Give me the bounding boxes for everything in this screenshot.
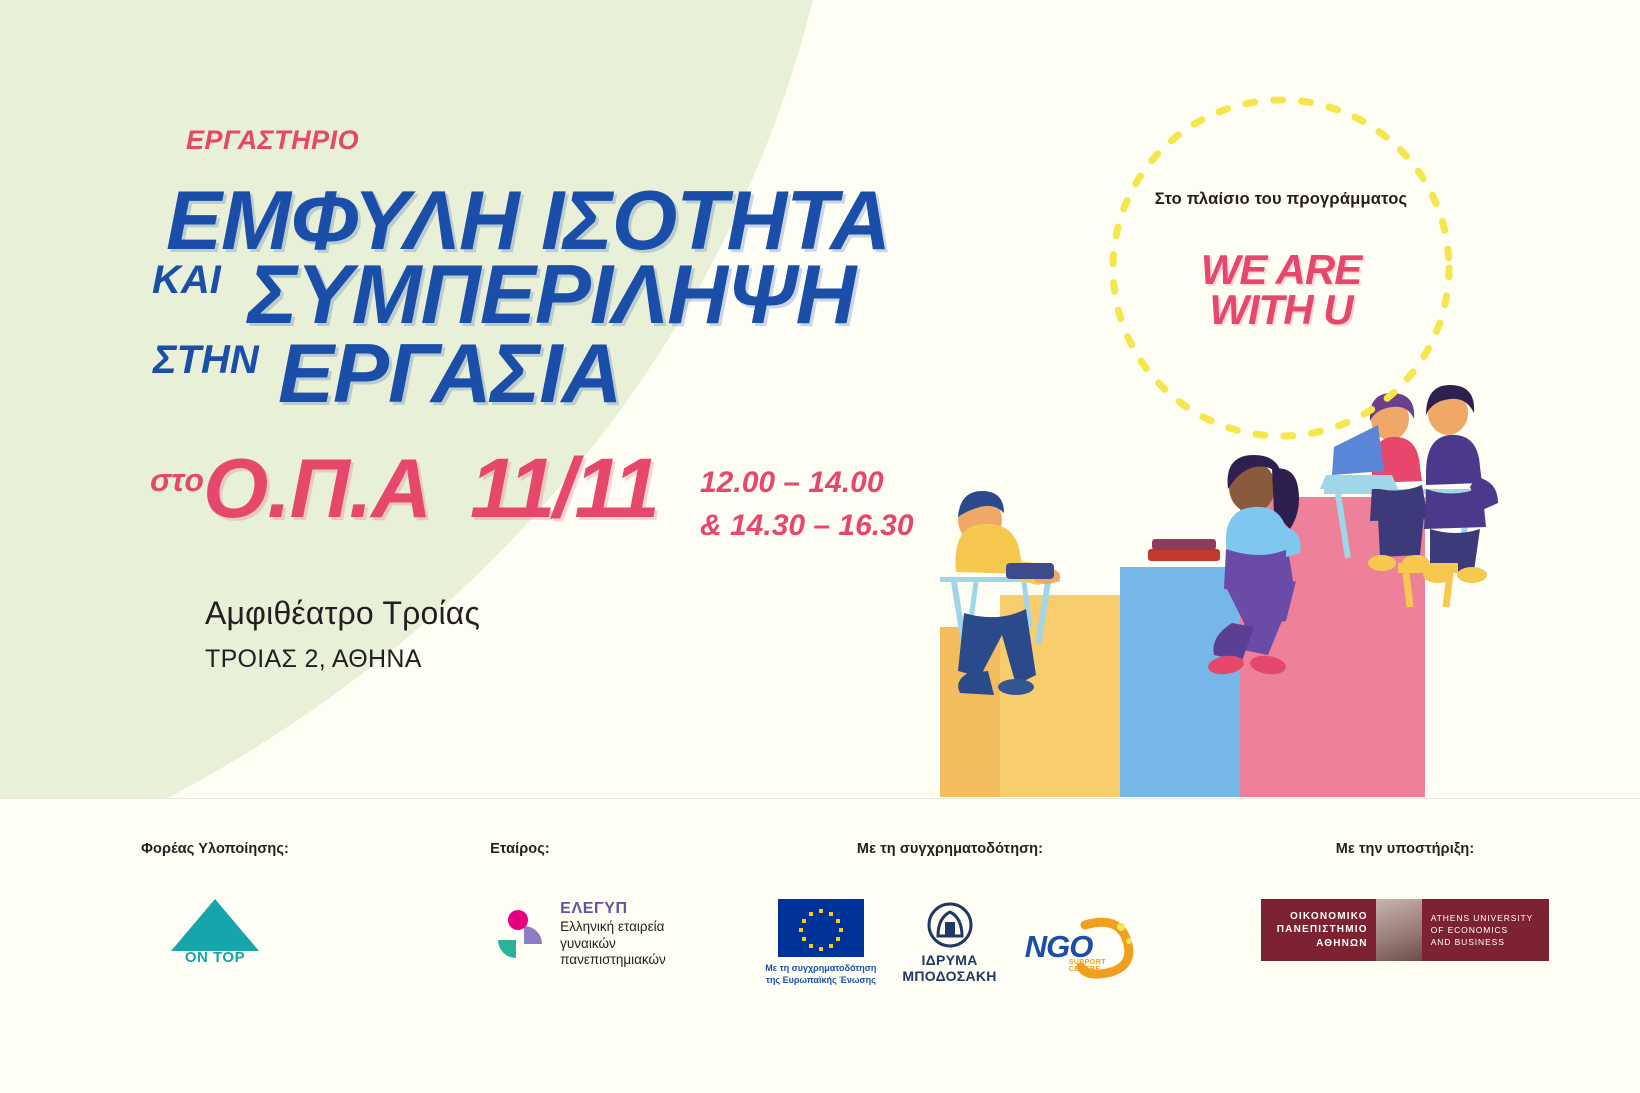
aueb-gr-1: ΟΙΚΟΝΟΜΙΚΟ <box>1290 910 1368 924</box>
footer-label-implementer: Φορέας Υλοποίησης: <box>141 841 289 857</box>
aueb-greek-text: ΟΙΚΟΝΟΜΙΚΟ ΠΑΝΕΠΙΣΤΗΜΙΟ ΑΘΗΝΩΝ <box>1263 899 1376 961</box>
footer-label-cofunding: Με τη συγχρηματοδότηση: <box>857 841 1043 857</box>
footer-column-cofunding: Με τη συγχρηματοδότηση: <box>730 841 1170 986</box>
event-poster: ΕΡΓΑΣΤΗΡΙΟ ΕΜΦΥΛΗ ΙΣΟΤΗΤΑ ΚΑΙ ΣΥΜΠΕΡΙΛΗΨ… <box>0 0 1640 1093</box>
event-time-slot-2: & 14.30 – 16.30 <box>700 505 914 548</box>
venue-short-name: Ο.Π.Α <box>203 440 431 537</box>
venue-address: ΤΡΟΙΑΣ 2, ΑΘΗΝΑ <box>205 645 422 674</box>
aueb-gr-2: ΠΑΝΕΠΙΣΤΗΜΙΟ <box>1277 923 1368 937</box>
elegyp-mark-icon <box>494 906 550 962</box>
women-on-top-text: WOMEN ON TOP <box>184 933 246 967</box>
ngo-tagline: SUPPORT CENTRE <box>1069 959 1135 973</box>
elegyp-sub-2: γυναικών <box>560 936 666 953</box>
elegyp-logo: ΕΛΕΓΥΠ Ελληνική εταιρεία γυναικών πανεπι… <box>494 899 666 969</box>
bodossaki-emblem-icon <box>927 902 973 948</box>
elegyp-sub-1: Ελληνική εταιρεία <box>560 919 666 936</box>
ngo-support-centre-logo: NGO SUPPORT CENTRE <box>1023 907 1135 979</box>
bodossaki-line-1: ΙΔΡΥΜΑ <box>902 952 996 968</box>
badge-logo-line-1: WE ARE <box>1108 250 1454 290</box>
event-time-slot-1: 12.00 – 14.00 <box>700 462 914 505</box>
eu-caption-line-1: Με τη συγχρηματοδότηση <box>765 963 876 975</box>
kicker-label: ΕΡΓΑΣΤΗΡΙΟ <box>186 125 359 156</box>
program-badge: Στο πλαίσιο του προγράμματος WE ARE WITH… <box>1108 95 1454 441</box>
aueb-en-3: AND BUSINESS <box>1431 936 1534 948</box>
badge-logo-line-2: WITH U <box>1108 290 1454 330</box>
wot-line-1: WOMEN <box>184 933 246 950</box>
bodossaki-foundation-logo: ΙΔΡΥΜΑ ΜΠΟΔΟΣΑΚΗ <box>902 902 996 984</box>
aueb-english-text: ATHENS UNIVERSITY OF ECONOMICS AND BUSIN… <box>1422 899 1548 961</box>
footer-column-implementer: Φορέας Υλοποίησης: WOMEN ON TOP <box>0 841 430 967</box>
at-word: στο <box>150 462 204 499</box>
european-union-logo: Με τη συγχρηματοδότηση της Ευρωπαϊκής Έν… <box>765 899 876 986</box>
venue-name: Αμφιθέατρο Τροίας <box>205 595 480 632</box>
badge-subtitle: Στο πλαίσιο του προγράμματος <box>1108 190 1454 209</box>
bodossaki-line-2: ΜΠΟΔΟΣΑΚΗ <box>902 968 996 984</box>
title-line-2-prefix: ΚΑΙ <box>152 258 221 303</box>
elegyp-title: ΕΛΕΓΥΠ <box>560 899 666 919</box>
elegyp-text: ΕΛΕΓΥΠ Ελληνική εταιρεία γυναικών πανεπι… <box>560 899 666 969</box>
women-on-top-logo: WOMEN ON TOP <box>171 899 259 967</box>
aueb-en-1: ATHENS UNIVERSITY <box>1431 912 1534 924</box>
eu-flag-icon <box>778 899 864 957</box>
aueb-bust-icon <box>1376 899 1422 961</box>
elegyp-sub-3: πανεπιστημιακών <box>560 952 666 969</box>
we-are-with-u-logo: WE ARE WITH U <box>1108 250 1454 330</box>
aueb-gr-3: ΑΘΗΝΩΝ <box>1316 937 1368 951</box>
eu-caption: Με τη συγχρηματοδότηση της Ευρωπαϊκής Έν… <box>765 963 876 986</box>
footer-column-partner: Εταίρος: ΕΛΕΓΥΠ Ελληνική εταιρεία γυναικ… <box>430 841 730 969</box>
cofunding-logos: Με τη συγχρηματοδότηση της Ευρωπαϊκής Έν… <box>765 899 1134 986</box>
bodossaki-text: ΙΔΡΥΜΑ ΜΠΟΔΟΣΑΚΗ <box>902 952 996 984</box>
wot-line-2: ON TOP <box>184 950 246 967</box>
event-times: 12.00 – 14.00 & 14.30 – 16.30 <box>700 462 914 547</box>
eu-caption-line-2: της Ευρωπαϊκής Ένωσης <box>765 975 876 987</box>
footer-column-support: Με την υποστήριξη: ΟΙΚΟΝΟΜΙΚΟ ΠΑΝΕΠΙΣΤΗΜ… <box>1170 841 1640 961</box>
title-line-3-prefix: ΣΤΗΝ <box>153 338 259 383</box>
footer-partners: Φορέας Υλοποίησης: WOMEN ON TOP Εταίρος: <box>0 798 1640 1093</box>
event-date: 11/11 <box>470 440 658 537</box>
aueb-logo: ΟΙΚΟΝΟΜΙΚΟ ΠΑΝΕΠΙΣΤΗΜΙΟ ΑΘΗΝΩΝ ATHENS UN… <box>1261 899 1549 961</box>
footer-columns: Φορέας Υλοποίησης: WOMEN ON TOP Εταίρος: <box>0 841 1640 986</box>
footer-label-support: Με την υποστήριξη: <box>1336 841 1475 857</box>
footer-label-partner: Εταίρος: <box>490 841 550 857</box>
aueb-en-2: OF ECONOMICS <box>1431 924 1534 936</box>
title-line-3: ΕΡΓΑΣΙΑ <box>278 325 621 422</box>
